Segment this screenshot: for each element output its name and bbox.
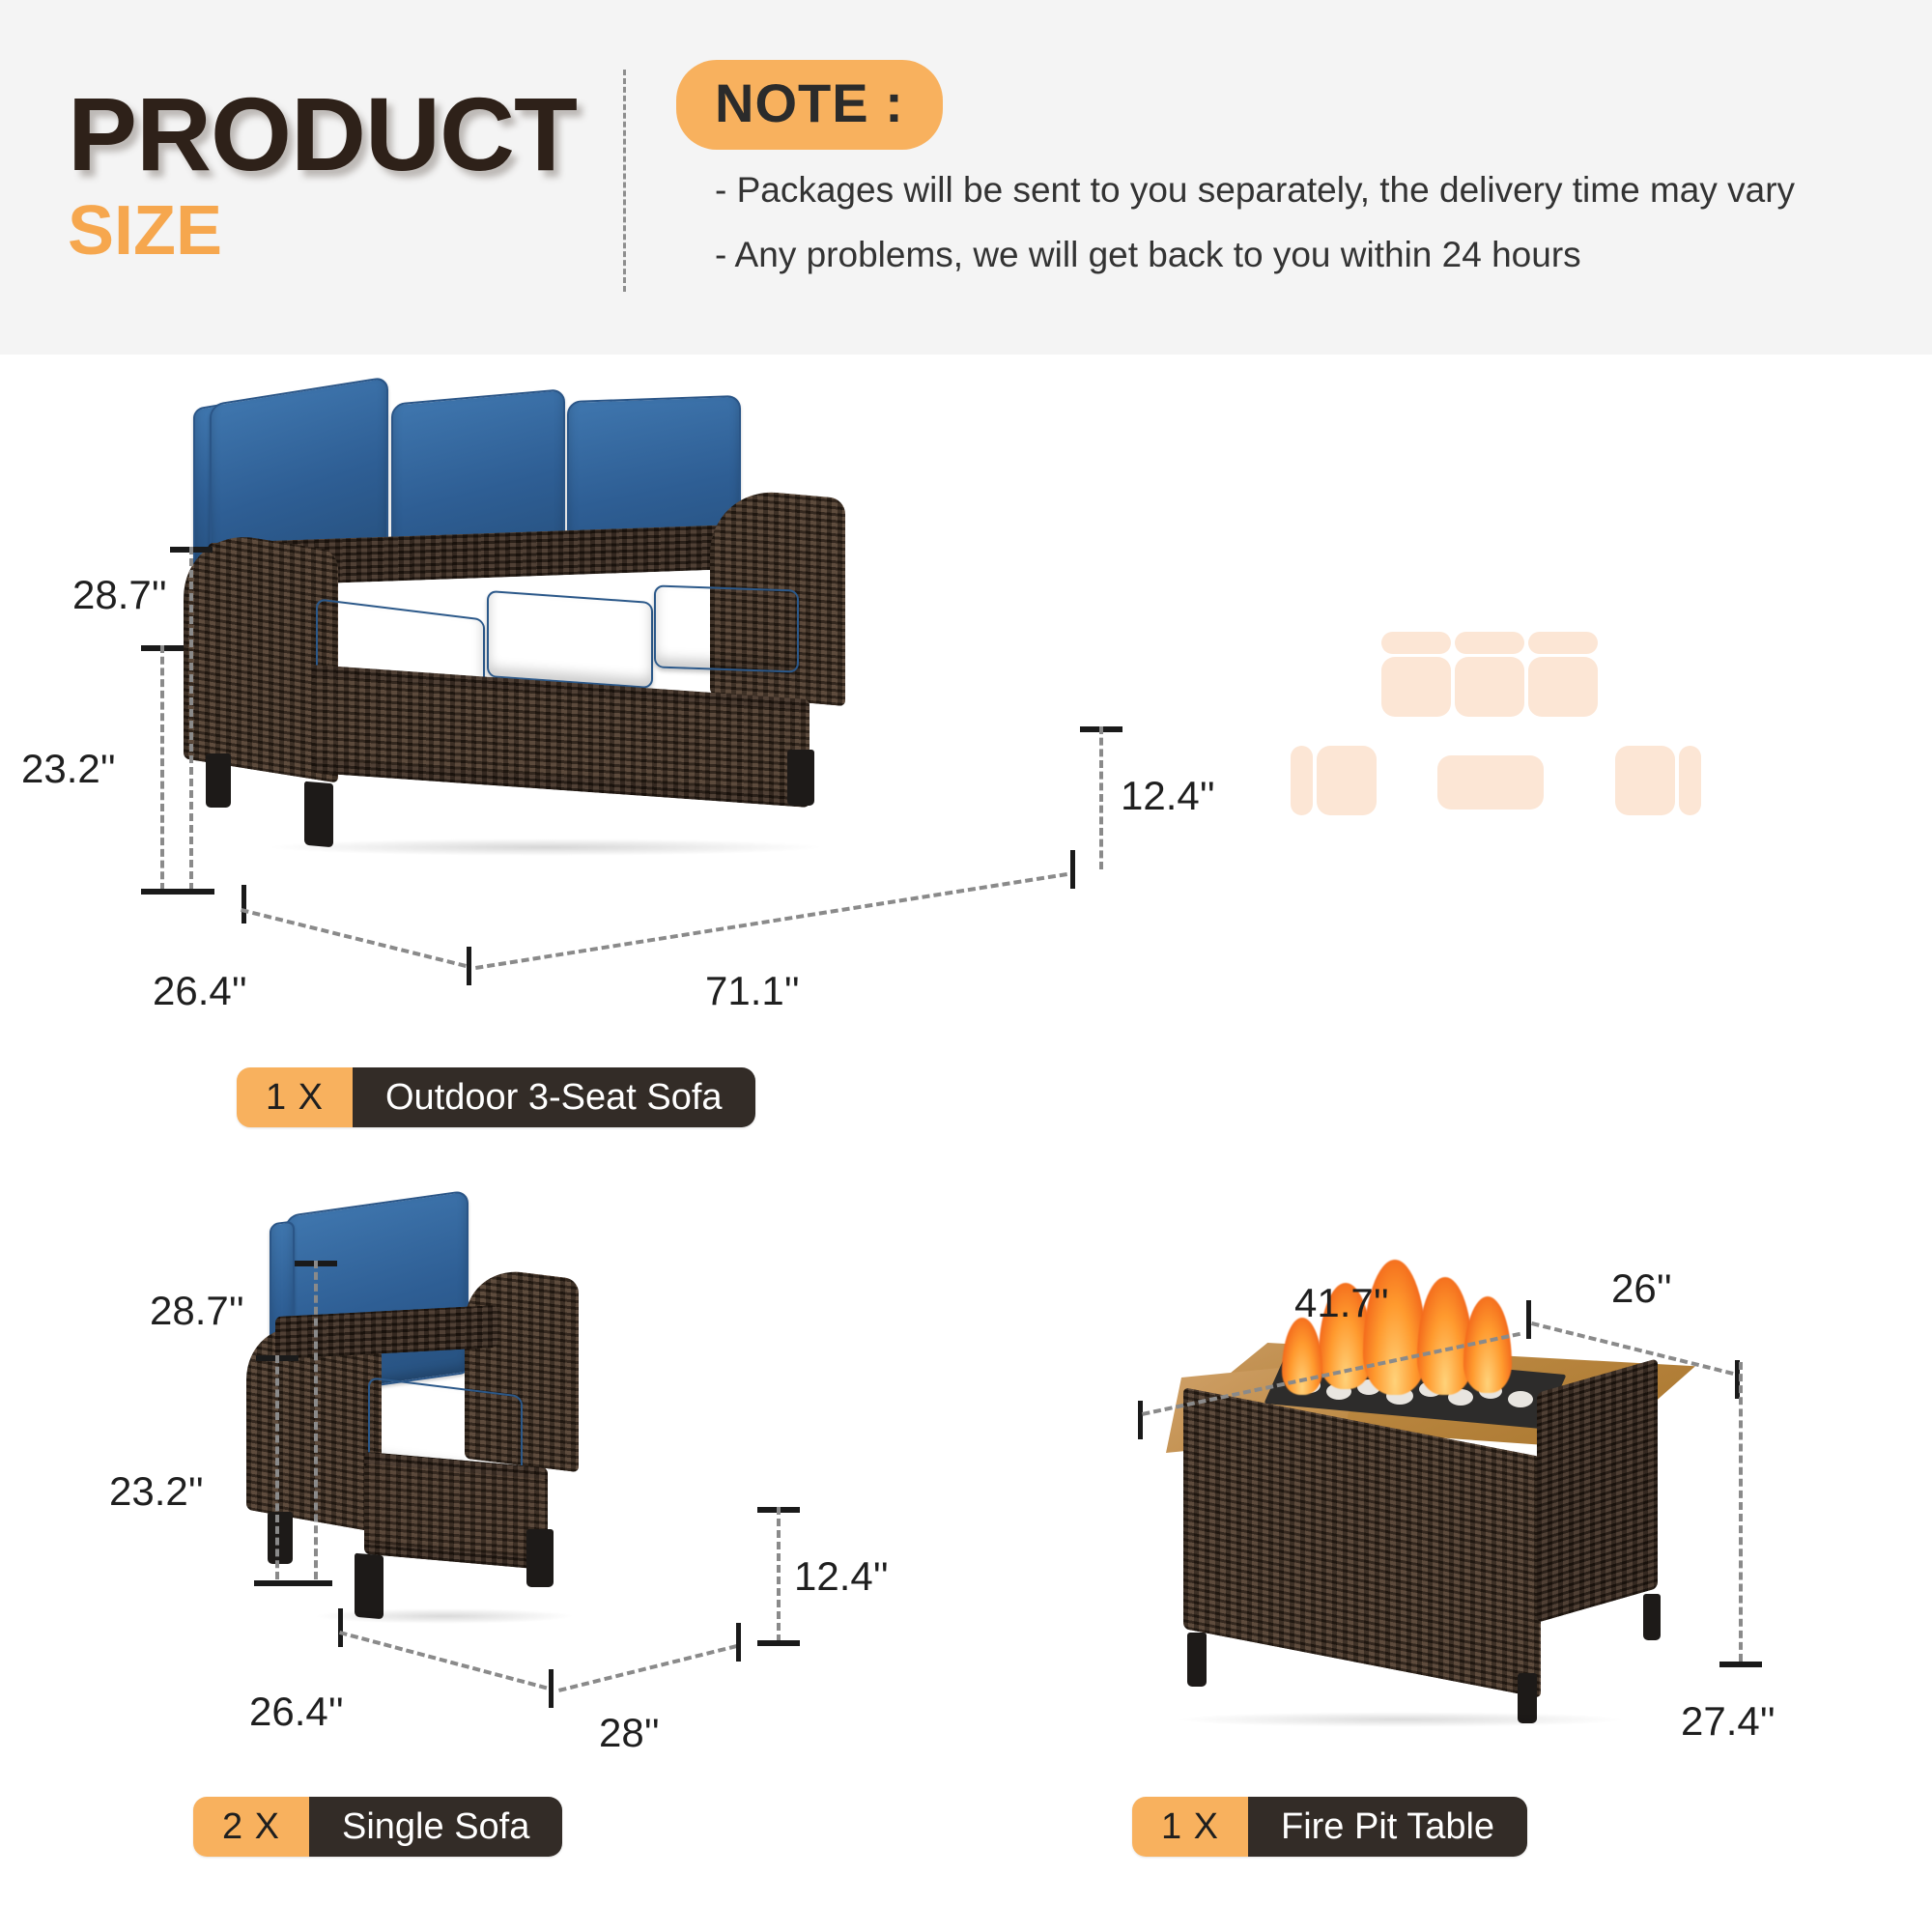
seat-cushion-2 (487, 590, 653, 689)
header-divider (623, 70, 626, 292)
page-title: PRODUCT SIZE (68, 82, 577, 266)
fire-pit-leg-left (1187, 1633, 1207, 1687)
chair-leg-back-left (268, 1512, 293, 1564)
layout-chair-right-seat (1615, 746, 1675, 815)
dim-sofa3-arm-height: 23.2'' (21, 746, 116, 792)
dimline-chair-width (558, 1644, 737, 1692)
seat-cushion-3 (654, 584, 799, 672)
tick-chair-bottom-b (290, 1580, 332, 1586)
sofa-leg-back-left (206, 753, 231, 808)
layout-sofa-back-2 (1455, 632, 1524, 654)
chair-leg-front-right (526, 1529, 554, 1587)
sofa-3-seat-illustration (208, 464, 1058, 927)
tick-table-height-bottom (1719, 1662, 1762, 1667)
tick-chair-seat-bottom (757, 1640, 800, 1646)
dim-chair-seat-height: 12.4'' (794, 1553, 889, 1600)
tick-sofa3-depth-top (241, 885, 246, 923)
badge-single-sofa[interactable]: 2 X Single Sofa (193, 1797, 562, 1857)
chair-base-front (364, 1463, 548, 1559)
single-sofa-illustration (275, 1222, 652, 1608)
layout-sofa-seat-3 (1528, 657, 1598, 717)
layout-sofa-back-1 (1381, 632, 1451, 654)
layout-sofa-seat-2 (1455, 657, 1524, 717)
dim-chair-depth: 26.4'' (249, 1689, 344, 1735)
layout-chair-left-seat (1317, 746, 1377, 815)
dim-sofa3-width: 71.1'' (705, 968, 800, 1014)
dimline-sofa3-arm-height (160, 645, 164, 891)
dim-table-width: 26'' (1611, 1265, 1672, 1312)
tick-table-length-right (1526, 1300, 1531, 1339)
dim-sofa3-back-height: 28.7'' (72, 572, 167, 618)
dimline-sofa3-seat-height (1099, 726, 1103, 869)
dimline-chair-seat-height (777, 1507, 781, 1642)
dim-chair-arm-height: 23.2'' (109, 1468, 204, 1515)
fire-pit-shadow (1174, 1712, 1628, 1727)
dim-sofa3-seat-height: 12.4'' (1121, 773, 1215, 819)
dimline-chair-back-height (314, 1261, 318, 1579)
fire-pit-leg-right (1643, 1594, 1661, 1640)
badge-fire-pit-table[interactable]: 1 X Fire Pit Table (1132, 1797, 1527, 1857)
dimline-chair-arm-height (275, 1355, 279, 1579)
fire-pit-body-side (1537, 1358, 1658, 1623)
header-banner: PRODUCT SIZE NOTE : - Packages will be s… (0, 0, 1932, 355)
tick-chair-depth-bottom (549, 1669, 554, 1708)
tick-chair-depth-top (338, 1608, 343, 1647)
dimline-chair-depth (339, 1631, 547, 1690)
layout-chair-left-arm (1291, 746, 1313, 815)
sofa-shadow (266, 838, 826, 856)
layout-sofa-seat-1 (1381, 657, 1451, 717)
badge-single-sofa-qty: 2 X (193, 1797, 309, 1857)
dimline-table-height (1739, 1362, 1743, 1662)
fire-pit-table-illustration (1174, 1314, 1695, 1729)
layout-chair-right-arm (1679, 746, 1701, 815)
dim-chair-width: 28'' (599, 1710, 660, 1756)
dim-table-length: 41.7'' (1294, 1280, 1389, 1326)
note-badge: NOTE : (676, 60, 943, 150)
layout-sofa-back-3 (1528, 632, 1598, 654)
badge-fire-pit-table-name: Fire Pit Table (1248, 1797, 1527, 1857)
title-size: SIZE (68, 196, 577, 266)
dim-sofa3-depth: 26.4'' (153, 968, 247, 1014)
tick-table-length-left (1138, 1401, 1143, 1439)
tick-sofa3-depth-bottom (467, 947, 471, 985)
title-product: PRODUCT (68, 82, 577, 186)
badge-fire-pit-table-qty: 1 X (1132, 1797, 1248, 1857)
badge-single-sofa-name: Single Sofa (309, 1797, 562, 1857)
tick-chair-width-right (736, 1623, 741, 1662)
tick-sofa3-width-right (1070, 850, 1075, 889)
chair-shadow (314, 1608, 575, 1624)
dimline-sofa3-back-height (189, 547, 193, 891)
set-layout-diagram (1285, 599, 1739, 821)
badge-sofa-3-seat-name: Outdoor 3-Seat Sofa (353, 1067, 755, 1127)
layout-table (1437, 755, 1544, 810)
badge-sofa-3-seat[interactable]: 1 X Outdoor 3-Seat Sofa (237, 1067, 755, 1127)
dim-chair-back-height: 28.7'' (150, 1288, 244, 1334)
note-line-2: - Any problems, we will get back to you … (715, 237, 1795, 272)
dim-table-height: 27.4'' (1681, 1698, 1776, 1745)
lava-rock (1508, 1391, 1533, 1407)
note-list: - Packages will be sent to you separatel… (715, 172, 1795, 301)
note-line-1: - Packages will be sent to you separatel… (715, 172, 1795, 208)
tick-sofa3-bottom-b (172, 889, 214, 895)
sofa-leg-front-right (787, 750, 814, 806)
badge-sofa-3-seat-qty: 1 X (237, 1067, 353, 1127)
